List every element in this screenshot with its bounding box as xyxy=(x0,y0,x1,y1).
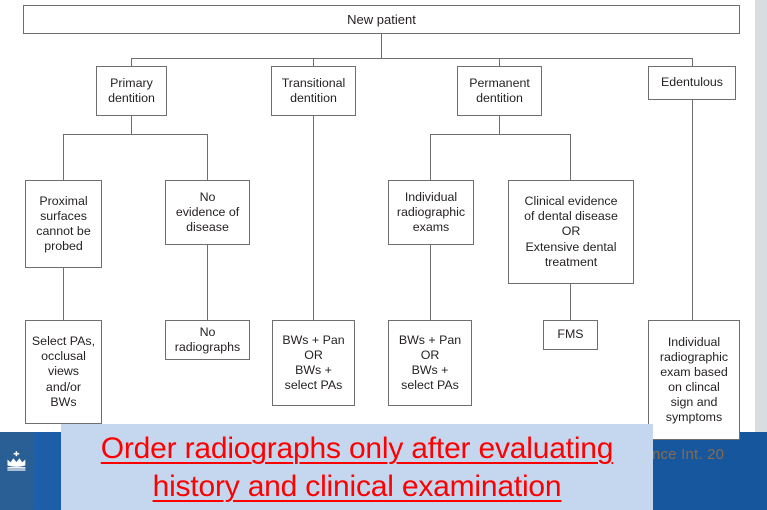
flow-box-individual-exam-clinical-signs[interactable]: Individual radiographic exam based on cl… xyxy=(648,320,740,440)
connector-proximal-drop xyxy=(63,268,64,320)
flow-box-no-evidence-of-disease[interactable]: No evidence of disease xyxy=(165,180,250,245)
flow-box-bws-pan-permanent[interactable]: BWs + Pan OR BWs + select PAs xyxy=(388,320,472,406)
flow-box-edentulous[interactable]: Edentulous xyxy=(648,66,736,100)
page-edge-strip xyxy=(755,0,767,432)
connector-transitional-stem xyxy=(313,116,314,320)
flow-box-bws-pan-transitional[interactable]: BWs + Pan OR BWs + select PAs xyxy=(272,320,355,406)
connector-permanent-right-drop xyxy=(570,134,571,180)
connector-individual-exams-drop xyxy=(430,245,431,320)
connector-permanent-stem xyxy=(499,116,500,134)
connector-primary-left-drop xyxy=(63,134,64,180)
flow-box-select-pas-occlusal[interactable]: Select PAs, occlusal views and/or BWs xyxy=(25,320,102,424)
flow-box-primary-dentition[interactable]: Primary dentition xyxy=(96,66,167,116)
flow-box-permanent-dentition[interactable]: Permanent dentition xyxy=(457,66,542,116)
flow-box-proximal-surfaces[interactable]: Proximal surfaces cannot be probed xyxy=(25,180,102,268)
crown-logo-icon xyxy=(4,448,30,474)
callout-banner: Order radiographs only after evaluating … xyxy=(61,424,653,510)
flow-box-fms[interactable]: FMS xyxy=(543,320,598,350)
flow-box-individual-radiographic-exams[interactable]: Individual radiographic exams xyxy=(388,180,474,245)
connector-clinical-evidence-drop xyxy=(570,284,571,320)
connector-to-edentulous xyxy=(692,58,693,66)
connector-primary-bus xyxy=(63,134,208,135)
connector-to-permanent xyxy=(499,58,500,66)
connector-root-bus xyxy=(131,58,692,59)
connector-permanent-bus xyxy=(430,134,571,135)
flow-box-no-radiographs[interactable]: No radiographs xyxy=(165,320,250,360)
flow-box-clinical-evidence[interactable]: Clinical evidence of dental disease OR E… xyxy=(508,180,634,284)
connector-to-primary xyxy=(131,58,132,66)
flow-box-transitional-dentition[interactable]: Transitional dentition xyxy=(271,66,356,116)
callout-line-2: history and clinical examination xyxy=(153,468,562,506)
slide-canvas: New patient Primary dentition Transition… xyxy=(0,0,767,510)
connector-primary-stem xyxy=(131,116,132,134)
connector-primary-right-drop xyxy=(207,134,208,180)
connector-root-stem xyxy=(381,34,382,58)
connector-edentulous-stem xyxy=(692,100,693,320)
connector-no-evidence-drop xyxy=(207,245,208,320)
callout-line-1: Order radiographs only after evaluating xyxy=(101,430,614,468)
flow-box-new-patient[interactable]: New patient xyxy=(23,5,740,34)
connector-to-transitional xyxy=(313,58,314,66)
connector-permanent-left-drop xyxy=(430,134,431,180)
